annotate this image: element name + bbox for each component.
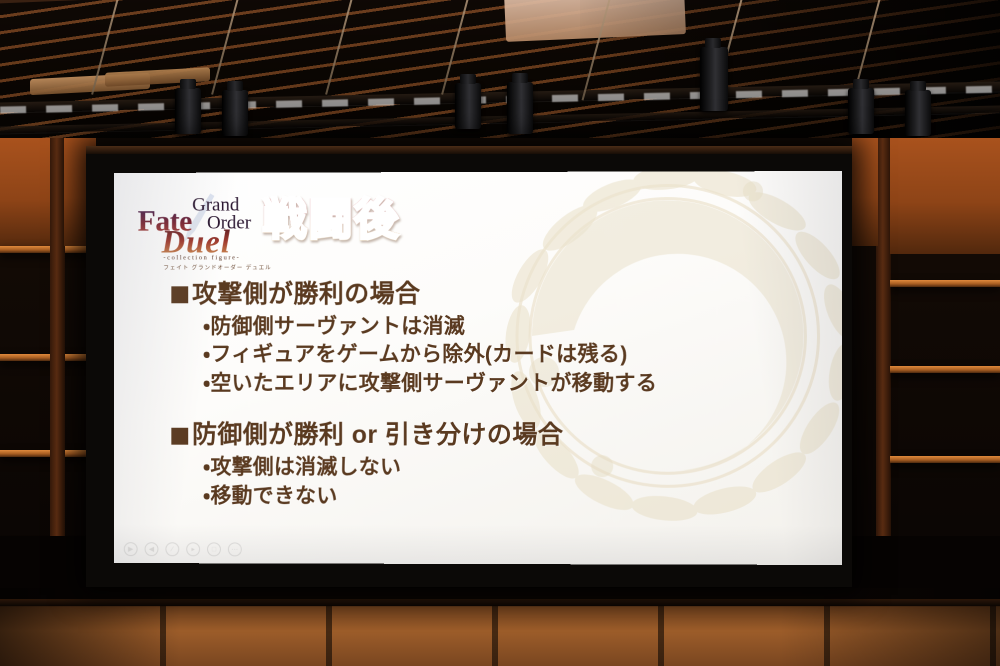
ceiling xyxy=(0,0,1000,150)
ceiling-spotlight xyxy=(507,82,533,134)
slide-title: 戦闘後 xyxy=(263,198,400,242)
square-bullet-icon xyxy=(171,287,188,304)
shelf-board xyxy=(890,456,1000,463)
square-bullet-icon xyxy=(171,427,188,444)
block-heading: 防御側が勝利 or 引き分けの場合 xyxy=(171,421,831,451)
pen-control-icon[interactable]: ∕ xyxy=(165,542,179,556)
ceiling-spotlight xyxy=(222,90,248,136)
shelf-post xyxy=(876,138,891,568)
content-block: 防御側が勝利 or 引き分けの場合 ・攻撃側は消滅しない ・移動できない xyxy=(171,421,831,512)
ceiling-shadow-right xyxy=(580,0,1000,150)
shelf-column-right-inner xyxy=(852,138,878,568)
presentation-player-controls[interactable]: ▶ ◀ ∕ ▸ □ ⋯ xyxy=(124,542,242,556)
logo-subtitle: -collection figure- xyxy=(163,254,240,261)
shelf-post xyxy=(50,138,65,568)
screen-top-bezel xyxy=(86,146,852,154)
shelf-board xyxy=(890,280,1000,287)
bullet-item: ・攻撃側は消滅しない xyxy=(203,454,832,484)
block-heading: 攻撃側が勝利の場合 xyxy=(171,280,831,310)
ceiling-spotlight xyxy=(905,90,931,136)
venue-room: Fate Grand Order Duel -collection figure… xyxy=(0,0,1000,666)
content-block: 攻撃側が勝利の場合 ・防御側サーヴァントは消滅 ・フィギュアをゲームから除外(カ… xyxy=(171,280,831,400)
projection-screen-frame: Fate Grand Order Duel -collection figure… xyxy=(86,146,852,587)
shelf-backing xyxy=(890,138,1000,254)
menu-control-icon[interactable]: □ xyxy=(207,542,221,556)
bullet-list: ・防御側サーヴァントは消滅 ・フィギュアをゲームから除外(カードは残る) ・空い… xyxy=(203,312,832,399)
bullet-item: ・移動できない xyxy=(203,482,832,512)
shelf-backing xyxy=(852,138,878,246)
block-heading-text: 攻撃側が勝利の場合 xyxy=(192,280,420,310)
previous-control-icon[interactable]: ◀ xyxy=(145,542,159,556)
block-heading-text: 防御側が勝利 or 引き分けの場合 xyxy=(192,421,563,451)
more-control-icon[interactable]: ⋯ xyxy=(228,542,242,556)
ceiling-spotlight xyxy=(700,47,728,111)
ceiling-spotlight xyxy=(175,88,201,134)
slide-body: 攻撃側が勝利の場合 ・防御側サーヴァントは消滅 ・フィギュアをゲームから除外(カ… xyxy=(171,280,831,535)
presentation-slide[interactable]: Fate Grand Order Duel -collection figure… xyxy=(114,171,842,565)
bullet-list: ・攻撃側は消滅しない ・移動できない xyxy=(203,454,832,513)
play-control-icon[interactable]: ▶ xyxy=(124,542,138,556)
logo-kana: フェイト グランドオーダー デュエル xyxy=(163,263,271,271)
next-control-icon[interactable]: ▸ xyxy=(186,542,200,556)
bullet-item: ・フィギュアをゲームから除外(カードは残る) xyxy=(203,341,832,370)
bullet-item: ・防御側サーヴァントは消滅 xyxy=(203,312,832,341)
bullet-item: ・空いたエリアに攻撃側サーヴァントが移動する xyxy=(203,370,832,399)
ceiling-spotlight xyxy=(455,83,481,129)
shelf-board xyxy=(890,366,1000,373)
ceiling-spotlight xyxy=(848,88,874,134)
counter-top-edge xyxy=(0,599,1000,606)
shelf-column-right xyxy=(890,138,1000,568)
